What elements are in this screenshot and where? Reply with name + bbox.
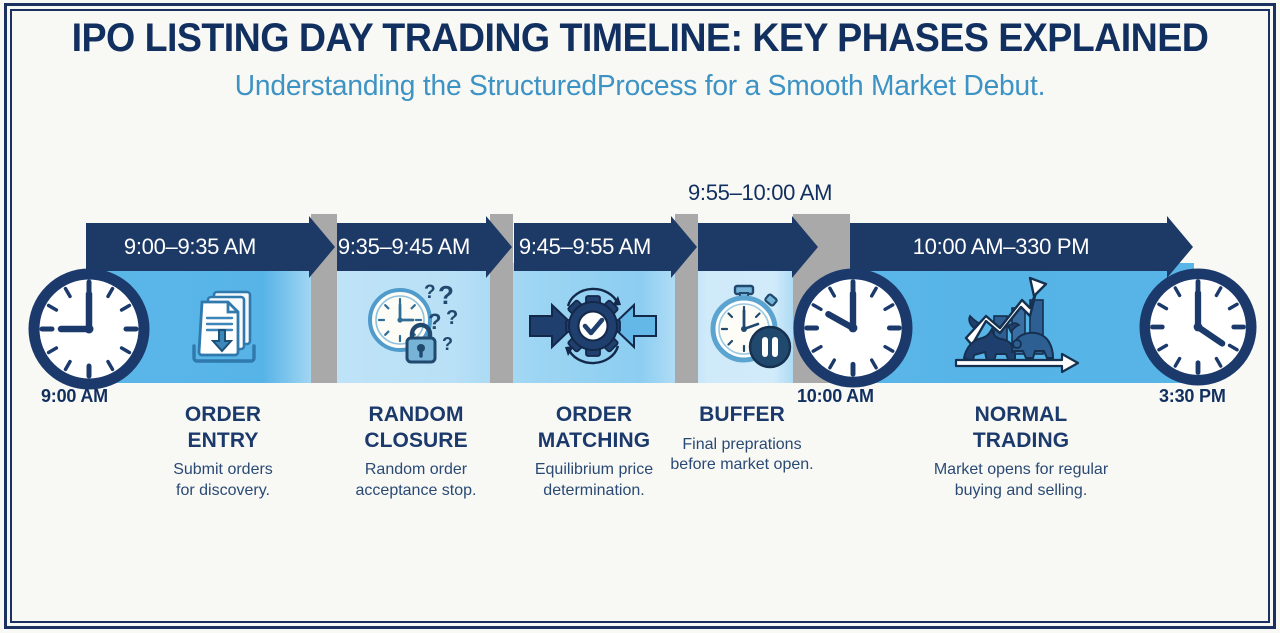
clock-icon (28, 268, 150, 390)
marker-label-close: 3:30 PM (1159, 386, 1226, 407)
icon-order-matching (528, 282, 658, 375)
phase-buffer: BUFFER Final preprations before market o… (666, 402, 818, 476)
arrow-label-normal-trading: 10:00 AM–330 PM (913, 234, 1090, 260)
ipo-timeline-infographic: IPO LISTING DAY TRADING TIMELINE: KEY PH… (0, 0, 1280, 633)
marker-label-start: 9:00 AM (41, 386, 108, 407)
arrow-label-buffer: 9:55–10:00 AM (688, 180, 832, 206)
icon-normal-trading (944, 274, 1084, 383)
arrow-normal-trading: 10:00 AM–330 PM (850, 223, 1168, 271)
timeline-stage: 9:00–9:35 AM 9:35–9:45 AM 9:45–9:55 AM 1… (0, 170, 1280, 430)
icon-order-entry (176, 278, 272, 379)
phase-description: Market opens for regular buying and sell… (910, 460, 1132, 502)
clock-icon (1139, 268, 1257, 386)
clock-icon (793, 268, 913, 388)
page-title: IPO LISTING DAY TRADING TIMELINE: KEY PH… (38, 16, 1241, 61)
arrow-order-entry: 9:00–9:35 AM (86, 223, 310, 271)
clock-market-open (793, 268, 913, 393)
icon-buffer (704, 280, 796, 377)
phase-normal-trading: NORMAL TRADING Market opens for regular … (910, 402, 1132, 502)
arrow-label-order-entry: 9:00–9:35 AM (124, 234, 256, 260)
phase-name: BUFFER (666, 402, 818, 428)
svg-text:?: ? (442, 334, 453, 354)
svg-text:?: ? (446, 307, 458, 329)
phase-description: Submit orders for discovery. (134, 460, 312, 502)
arrow-buffer (698, 223, 793, 271)
phase-name: RANDOM CLOSURE (327, 402, 505, 453)
phase-description: Random order acceptance stop. (327, 460, 505, 502)
arrow-order-matching: 9:45–9:55 AM (514, 223, 672, 271)
phase-random-closure: RANDOM CLOSURE Random order acceptance s… (327, 402, 505, 502)
phase-description: Equilibrium price determination. (505, 460, 683, 502)
phase-name: NORMAL TRADING (910, 402, 1132, 453)
svg-text:?: ? (438, 280, 454, 310)
phase-order-matching: ORDER MATCHING Equilibrium price determi… (505, 402, 683, 502)
bull-bear-chart-icon (944, 274, 1084, 378)
header: IPO LISTING DAY TRADING TIMELINE: KEY PH… (0, 16, 1280, 103)
clock-lock-question-icon: ? ? ? ? ? (362, 274, 466, 374)
page-subtitle: Understanding the StructuredProcess for … (19, 70, 1261, 103)
phase-name: ORDER ENTRY (134, 402, 312, 453)
phase-order-entry: ORDER ENTRY Submit orders for discovery. (134, 402, 312, 502)
clock-start (28, 268, 150, 395)
gear-check-arrows-icon (528, 282, 658, 370)
svg-text:?: ? (428, 309, 441, 334)
arrow-label-order-matching: 9:45–9:55 AM (519, 234, 651, 260)
stopwatch-pause-icon (704, 280, 796, 372)
arrow-random-closure: 9:35–9:45 AM (337, 223, 487, 271)
phase-description: Final preprations before market open. (666, 435, 818, 477)
icon-random-closure: ? ? ? ? ? (362, 274, 466, 379)
arrow-label-random-closure: 9:35–9:45 AM (338, 234, 470, 260)
phase-name: ORDER MATCHING (505, 402, 683, 453)
clock-market-close (1139, 268, 1257, 391)
documents-download-icon (176, 278, 272, 374)
svg-text:?: ? (424, 282, 436, 303)
